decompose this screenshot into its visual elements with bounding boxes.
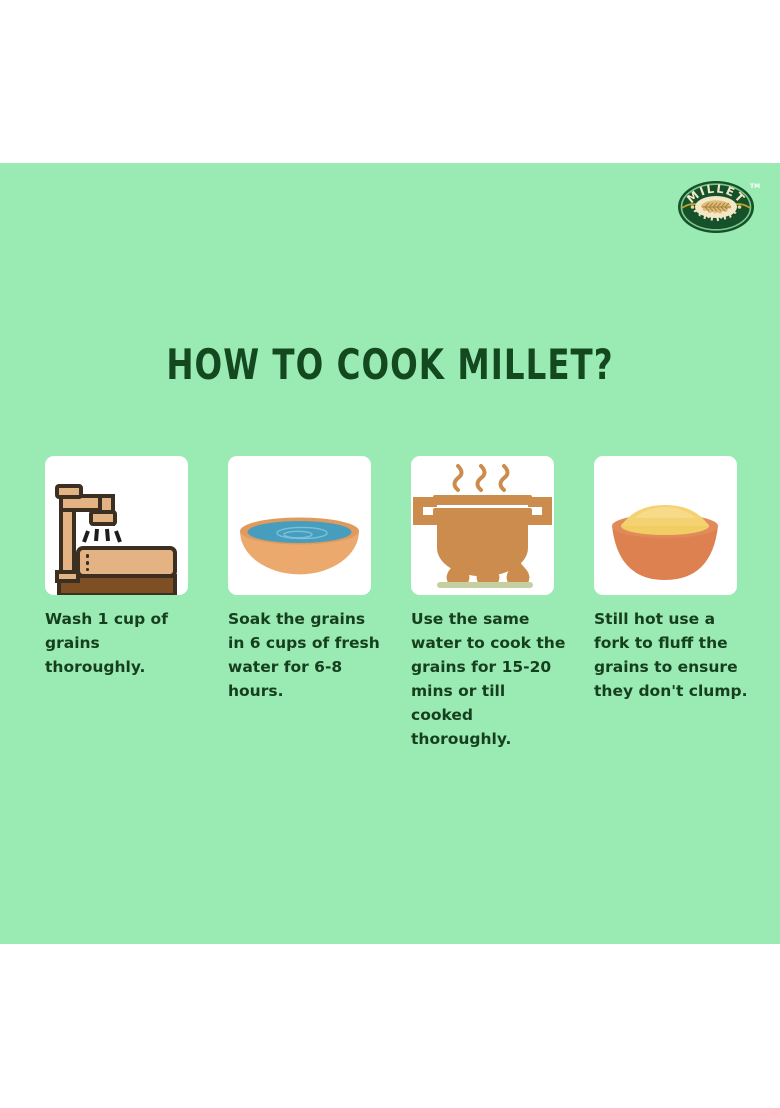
millet-amma-logo: MILLET AMMA TM [676,178,760,236]
step-2: Soak the grains in 6 cups of fresh water… [228,456,371,703]
step-4: Still hot use a fork to fluff the grains… [594,456,737,703]
step-1-caption: Wash 1 cup of grains thoroughly. [45,607,197,679]
step-2-icon-card [228,456,371,595]
step-1: Wash 1 cup of grains thoroughly. [45,456,188,679]
step-4-caption: Still hot use a fork to fluff the grains… [594,607,750,703]
step-3-caption: Use the same water to cook the grains fo… [411,607,567,751]
step-3-icon-card [411,456,554,595]
page-title: HOW TO COOK MILLET? [55,340,726,389]
step-3: Use the same water to cook the grains fo… [411,456,554,751]
step-2-caption: Soak the grains in 6 cups of fresh water… [228,607,380,703]
step-1-icon-card [45,456,188,595]
step-4-icon-card [594,456,737,595]
trademark-symbol: TM [750,183,760,190]
